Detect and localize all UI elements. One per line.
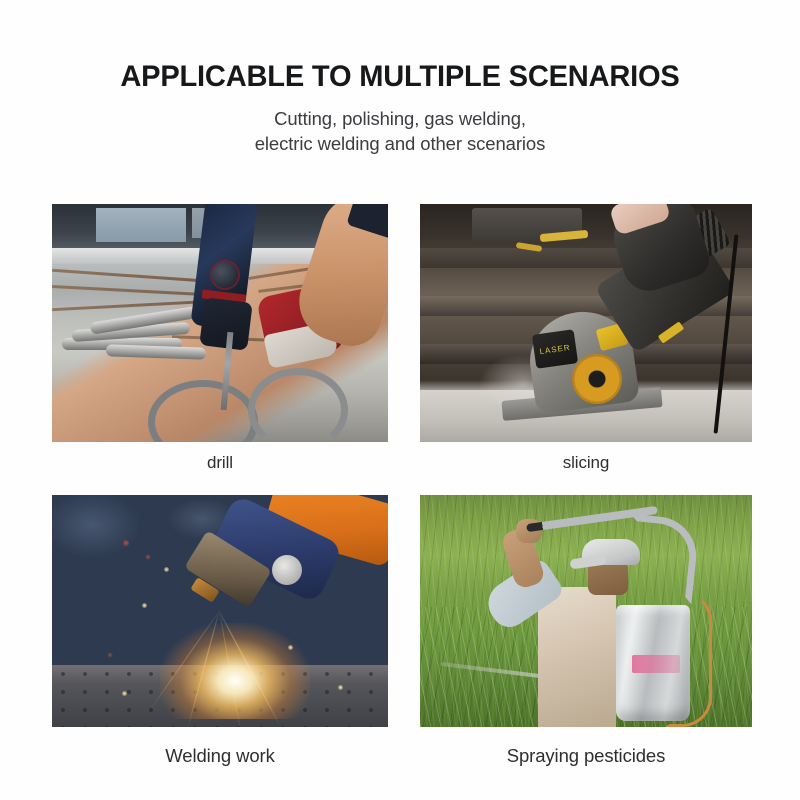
welding-photo bbox=[52, 495, 388, 727]
spark-particle bbox=[164, 567, 169, 572]
rebar-rod bbox=[52, 269, 202, 282]
scenario-gallery: drill LASER bbox=[52, 204, 752, 767]
scenario-cell-welding: Welding work bbox=[52, 495, 388, 767]
saw-laser-label: LASER bbox=[532, 329, 578, 369]
spark-particle bbox=[142, 603, 147, 608]
subtitle-line-1: Cutting, polishing, gas welding, bbox=[0, 107, 800, 132]
conduit-bend bbox=[248, 368, 348, 442]
photo-caption-welding: Welding work bbox=[52, 727, 388, 767]
photo-caption-drill: drill bbox=[52, 442, 388, 473]
steel-pipe bbox=[106, 344, 206, 359]
gallery-row-1: drill LASER bbox=[52, 204, 752, 473]
scenario-cell-slicing: LASER slicing bbox=[420, 204, 752, 473]
photo-caption-spraying: Spraying pesticides bbox=[420, 727, 752, 767]
scenario-cell-spraying: Spraying pesticides bbox=[420, 495, 752, 767]
steel-pipes-group bbox=[62, 312, 204, 356]
page-subtitle: Cutting, polishing, gas welding, electri… bbox=[0, 93, 800, 156]
slicing-photo: LASER bbox=[420, 204, 752, 442]
subtitle-line-2: electric welding and other scenarios bbox=[0, 132, 800, 157]
weld-arc-flash bbox=[160, 623, 310, 719]
header: APPLICABLE TO MULTIPLE SCENARIOS Cutting… bbox=[0, 0, 800, 157]
conduit-bend bbox=[148, 380, 258, 442]
spark-particle bbox=[122, 691, 127, 696]
photo-caption-slicing: slicing bbox=[420, 442, 752, 473]
scenario-cell-drill: drill bbox=[52, 204, 388, 473]
drill-photo-window bbox=[96, 208, 186, 242]
spark-particle bbox=[288, 645, 293, 650]
spraying-photo bbox=[420, 495, 752, 727]
scenario-banner-page: APPLICABLE TO MULTIPLE SCENARIOS Cutting… bbox=[0, 0, 800, 800]
gallery-row-2: Welding work bbox=[52, 495, 752, 767]
spark-particle bbox=[338, 685, 343, 690]
drill-photo bbox=[52, 204, 388, 442]
rotary-hammer-dial bbox=[212, 262, 238, 288]
sprayer-hose bbox=[666, 591, 712, 727]
page-title: APPLICABLE TO MULTIPLE SCENARIOS bbox=[6, 0, 794, 93]
farmer-torso bbox=[538, 587, 616, 727]
